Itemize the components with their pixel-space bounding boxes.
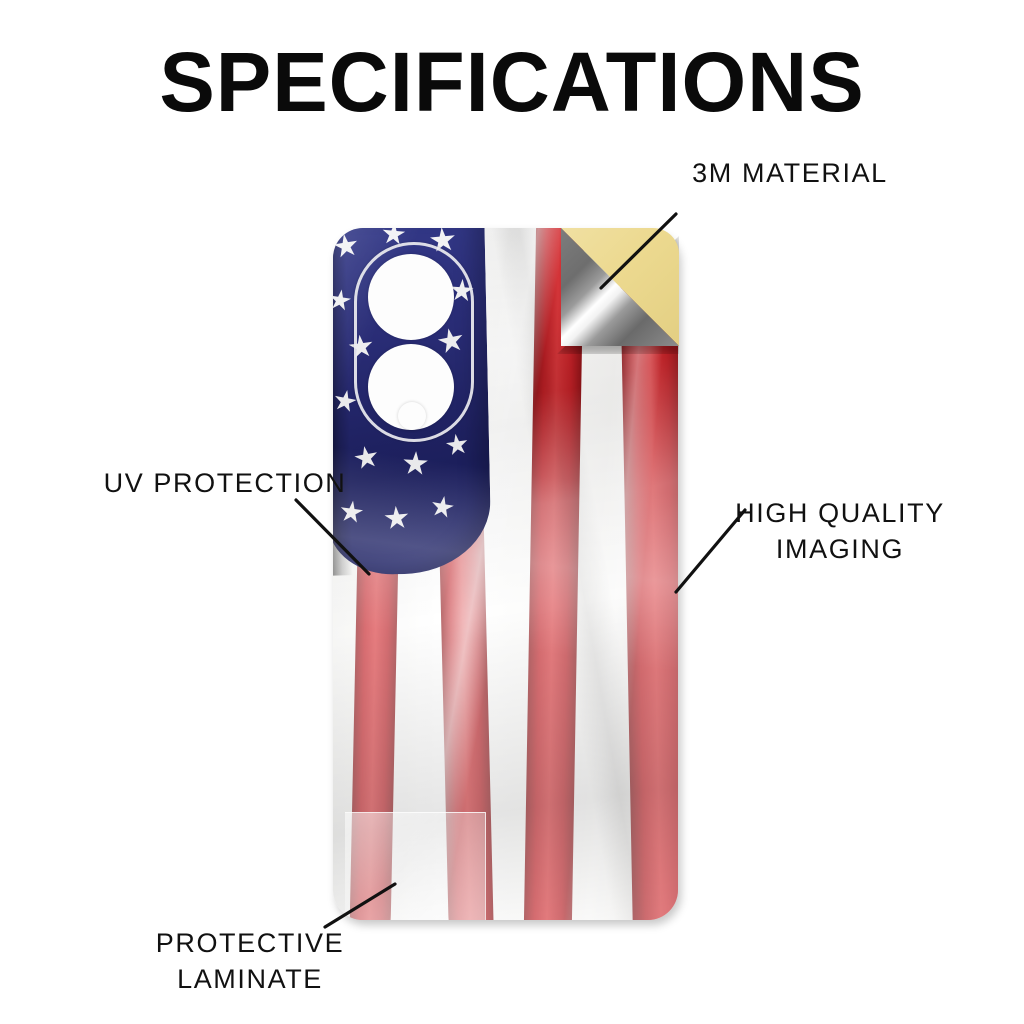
camera-lens-top (368, 254, 454, 340)
camera-lens-small (398, 402, 426, 430)
callout-label-protective-laminate: PROTECTIVE LAMINATE (90, 925, 410, 997)
flag-star (429, 494, 455, 520)
specifications-infographic: SPECIFICATIONS (0, 0, 1024, 1024)
callout-label-high-quality-imaging: HIGH QUALITY IMAGING (690, 495, 990, 567)
callout-label-3m-material: 3M MATERIAL (600, 155, 980, 191)
peel-corner-3m-material (561, 228, 679, 346)
flag-star (384, 506, 410, 532)
camera-module-cutout (354, 242, 474, 442)
flag-star (402, 451, 429, 478)
page-title: SPECIFICATIONS (5, 36, 1019, 128)
callout-label-uv-protection: UV PROTECTION (60, 465, 390, 501)
